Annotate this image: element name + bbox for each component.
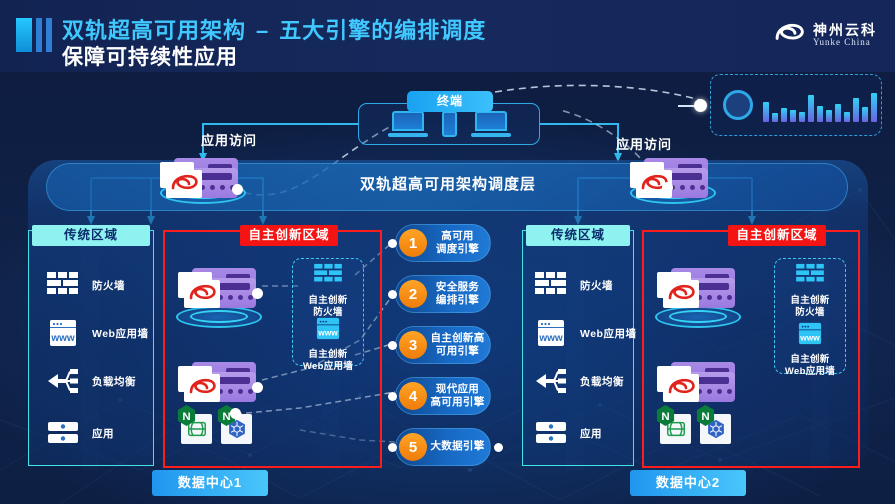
metric-bar	[763, 102, 769, 122]
innovation-sub-item-dc2-0: 自主创新防火墙	[774, 263, 846, 319]
traditional-item-label: 应用	[92, 426, 114, 441]
engine-pill-2[interactable]: 2 安全服务编排引擎	[395, 275, 491, 313]
traditional-item-dc2-1: www Web应用墙	[534, 318, 636, 348]
metric-bar	[790, 110, 796, 122]
engine-pill-4[interactable]: 4 现代应用高可用引擎	[395, 377, 491, 415]
traditional-item-label: 应用	[580, 426, 602, 441]
engine-pill-5[interactable]: 5 大数据引擎	[395, 428, 491, 466]
innovation-server-stack-dc2-1	[657, 362, 735, 404]
web-browser-www-icon: www	[46, 318, 80, 348]
firewall-brick-icon	[794, 263, 826, 287]
engine-node-1	[388, 239, 397, 248]
web-browser-www-icon: www	[796, 322, 824, 346]
innovation-sub-item-dc1-1: www 自主创新Web应用墙	[292, 317, 364, 373]
svg-text:N: N	[661, 411, 669, 423]
innovation-port-node-dc1-0	[252, 288, 263, 299]
traditional-item-dc1-1: www Web应用墙	[46, 318, 148, 348]
metric-bar	[844, 112, 850, 122]
traditional-item-label: 负载均衡	[580, 374, 624, 389]
innovation-server-stack-dc2-0	[657, 268, 735, 310]
metric-bar	[862, 107, 868, 122]
slide-canvas: 双轨超高可用架构–五大引擎的编排调度 保障可持续性应用 神州云科 Yunke C…	[0, 0, 895, 504]
engine-node-3	[388, 341, 397, 350]
traditional-item-label: 负载均衡	[92, 374, 136, 389]
donut-chart-icon	[723, 90, 753, 120]
innovation-sub-label-l1: 自主创新	[308, 295, 347, 306]
bar-chart-icon	[763, 88, 877, 122]
traditional-zone-badge-dc2: 传统区域	[526, 225, 630, 246]
metric-bar	[835, 104, 841, 122]
swirl-logo-icon	[666, 283, 696, 305]
svg-text:N: N	[182, 411, 190, 423]
engine-number-4: 4	[399, 382, 427, 410]
scheduler-server-stack	[160, 158, 238, 200]
engine-number-5: 5	[399, 433, 427, 461]
load-balancer-icon	[534, 366, 568, 396]
innovation-sub-label-l1: 自主创新	[790, 295, 829, 306]
svg-text:www: www	[799, 332, 820, 342]
innovation-port-node-dc1-1	[252, 382, 263, 393]
innovation-platform-ring-inner-dc2	[669, 310, 727, 323]
metric-bar	[799, 112, 805, 122]
innovation-sub-label-l1: 自主创新	[790, 354, 829, 365]
nginx-icon: N	[178, 406, 212, 444]
innovation-zone-badge-dc1: 自主创新区域	[240, 225, 338, 246]
access-label-right: 应用访问	[616, 134, 672, 153]
svg-text:N: N	[701, 411, 709, 423]
web-browser-www-icon: www	[314, 317, 342, 341]
innovation-sub-label-l2: Web应用墙	[785, 366, 835, 377]
server-rack-icon	[534, 418, 568, 448]
engine-label-1: 高可用调度引擎	[427, 230, 490, 256]
firewall-brick-icon	[312, 263, 344, 287]
scheduler-port-node	[232, 184, 243, 195]
traditional-item-label: 防火墙	[92, 278, 125, 293]
svg-text:www: www	[50, 333, 75, 344]
traditional-item-dc1-3: 应用	[46, 418, 114, 448]
laptop-icon	[388, 111, 428, 137]
phone-icon	[442, 111, 457, 137]
metric-bar	[808, 95, 814, 122]
engine-label-3: 自主创新高可用引擎	[427, 332, 490, 358]
svg-text:www: www	[538, 333, 563, 344]
innovation-server-stack-dc1-1	[178, 362, 256, 404]
engine-label-2: 安全服务编排引擎	[427, 281, 490, 307]
innovation-sub-label-l2: Web应用墙	[303, 361, 353, 372]
engine-number-3: 3	[399, 331, 427, 359]
metric-bar	[826, 110, 832, 122]
innovation-server-stack-dc1-0	[178, 268, 256, 310]
kubernetes-icon: N	[697, 406, 731, 444]
engine-node-5-right	[494, 443, 503, 452]
metric-bar	[853, 98, 859, 122]
traditional-item-dc1-2: 负载均衡	[46, 366, 136, 396]
engine-node-2	[388, 290, 397, 299]
engine-number-2: 2	[399, 280, 427, 308]
traditional-item-label: Web应用墙	[92, 326, 148, 341]
load-balancer-icon	[46, 366, 80, 396]
engine-node-4	[388, 392, 397, 401]
metrics-connector-node	[694, 99, 707, 112]
metric-bar	[772, 113, 778, 122]
engine-node-5-left	[388, 443, 397, 452]
swirl-logo-icon	[187, 377, 217, 399]
swirl-logo-icon	[187, 283, 217, 305]
metric-bar	[817, 106, 823, 122]
scheduling-layer-label: 双轨超高可用架构调度层	[360, 173, 536, 194]
scheduler-server-stack	[630, 158, 708, 200]
nginx-hex-badge-icon: N	[176, 404, 197, 427]
datacenter-label-2: 数据中心2	[630, 470, 746, 496]
innovation-port-node-dc1-2	[230, 408, 241, 419]
innovation-sub-item-dc1-0: 自主创新防火墙	[292, 263, 364, 319]
engine-pill-1[interactable]: 1 高可用调度引擎	[395, 224, 491, 262]
innovation-sub-item-dc2-1: www 自主创新Web应用墙	[774, 322, 846, 378]
metric-bar	[871, 93, 877, 122]
traditional-zone-badge-dc1: 传统区域	[32, 225, 150, 246]
engine-label-4: 现代应用高可用引擎	[427, 383, 490, 409]
scheduler-port-node	[662, 182, 673, 193]
engine-label-5: 大数据引擎	[427, 440, 490, 453]
innovation-sub-label-l2: 防火墙	[795, 307, 824, 318]
traditional-item-dc2-3: 应用	[534, 418, 602, 448]
datacenter-label-1: 数据中心1	[152, 470, 268, 496]
server-rack-icon	[46, 418, 80, 448]
swirl-logo-icon	[666, 377, 696, 399]
traditional-item-dc2-2: 负载均衡	[534, 366, 624, 396]
firewall-brick-icon	[534, 270, 568, 300]
laptop-icon	[471, 111, 511, 137]
terminal-label: 终端	[407, 91, 493, 112]
nginx-hex-badge-icon: N	[655, 404, 676, 427]
access-label-left: 应用访问	[201, 130, 257, 149]
web-browser-www-icon: www	[534, 318, 568, 348]
engine-number-1: 1	[399, 229, 427, 257]
firewall-brick-icon	[46, 270, 80, 300]
traditional-item-dc2-0: 防火墙	[534, 270, 613, 300]
innovation-zone-badge-dc2: 自主创新区域	[728, 225, 826, 246]
traditional-item-label: 防火墙	[580, 278, 613, 293]
innovation-sub-label-l1: 自主创新	[308, 349, 347, 360]
nginx-icon: N	[657, 406, 691, 444]
innovation-platform-ring-inner-dc1	[190, 310, 248, 323]
nginx-hex-badge-icon: N	[695, 404, 716, 427]
traditional-item-label: Web应用墙	[580, 326, 636, 341]
swirl-logo-icon	[169, 173, 199, 195]
svg-text:www: www	[317, 327, 338, 337]
engine-pill-3[interactable]: 3 自主创新高可用引擎	[395, 326, 491, 364]
metrics-widget[interactable]	[710, 74, 882, 136]
traditional-item-dc1-0: 防火墙	[46, 270, 125, 300]
metric-bar	[781, 108, 787, 122]
